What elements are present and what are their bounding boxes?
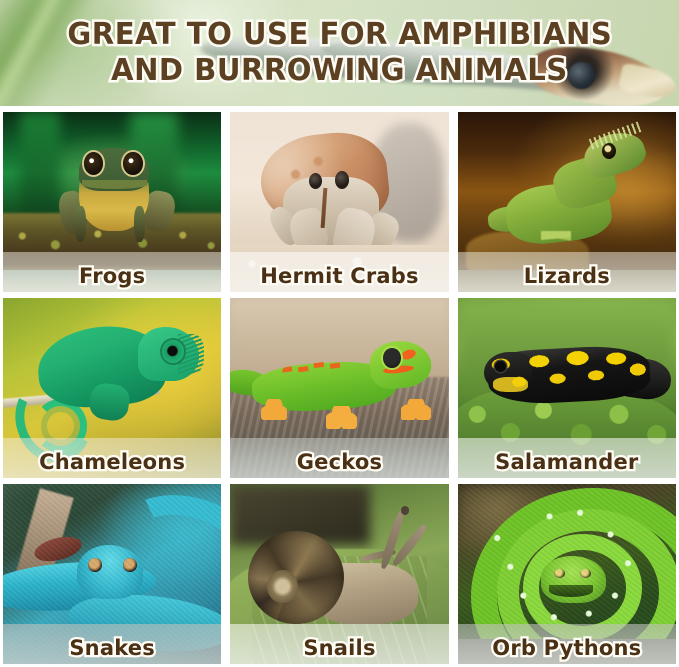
snail-eye-tip (401, 506, 410, 515)
banner-title: GREAT TO USE FOR AMPHIBIANS AND BURROWIN… (0, 0, 679, 106)
grid-cell-snails[interactable]: Snails (230, 484, 448, 664)
frog-background-streak (20, 112, 59, 224)
grid-cell-geckos[interactable]: Geckos (230, 298, 448, 478)
gecko-foot-mid (326, 406, 357, 429)
header-banner: GREAT TO USE FOR AMPHIBIANS AND BURROWIN… (0, 0, 679, 106)
grid-cell-orb-pythons[interactable]: Orb Pythons (458, 484, 676, 664)
gecko-eye (383, 348, 400, 368)
cell-label-orb-pythons: Orb Pythons (458, 635, 676, 661)
cell-label-geckos: Geckos (230, 449, 448, 475)
grid-cell-frogs[interactable]: Frogs (3, 112, 221, 292)
grid-cell-salamander[interactable]: Salamander (458, 298, 676, 478)
chameleon-eye (160, 338, 186, 365)
snail-shell-spiral (267, 570, 298, 602)
cell-label-chameleons: Chameleons (3, 449, 221, 475)
gecko-foot-rear (261, 399, 287, 421)
product-feature-poster: GREAT TO USE FOR AMPHIBIANS AND BURROWIN… (0, 0, 679, 667)
salamander-yellow-spots (482, 340, 660, 410)
frog-left-arm (75, 206, 86, 242)
cell-label-lizards: Lizards (458, 263, 676, 289)
cell-label-frogs: Frogs (3, 263, 221, 289)
animal-grid: Frogs Hermit Crabs (3, 112, 676, 664)
salamander-eye (495, 361, 506, 372)
grid-cell-chameleons[interactable]: Chameleons (3, 298, 221, 478)
grid-cell-snakes[interactable]: Snakes (3, 484, 221, 664)
frog-right-eye (123, 152, 143, 175)
cell-label-hermit-crabs: Hermit Crabs (230, 263, 448, 289)
grid-cell-lizards[interactable]: Lizards (458, 112, 676, 292)
cell-label-snails: Snails (230, 635, 448, 661)
grid-cell-hermit-crabs[interactable]: Hermit Crabs (230, 112, 448, 292)
banner-title-line-1: GREAT TO USE FOR AMPHIBIANS (67, 18, 612, 52)
cell-label-salamander: Salamander (458, 449, 676, 475)
banner-title-line-2: AND BURROWING ANIMALS (111, 54, 568, 88)
lizard-eye (602, 143, 616, 159)
cell-label-snakes: Snakes (3, 635, 221, 661)
frog-right-arm (134, 206, 145, 242)
gecko-foot-front (401, 399, 432, 421)
